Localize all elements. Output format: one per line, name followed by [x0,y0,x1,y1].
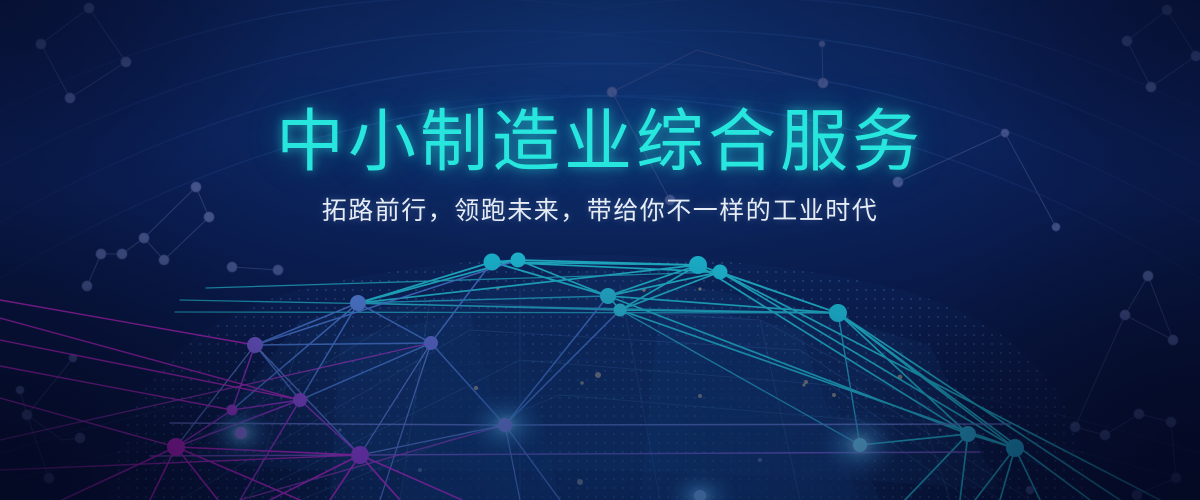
background-corner-shade [0,0,1200,500]
hero-banner: 中小制造业综合服务 拓路前行，领跑未来，带给你不一样的工业时代 [0,0,1200,500]
